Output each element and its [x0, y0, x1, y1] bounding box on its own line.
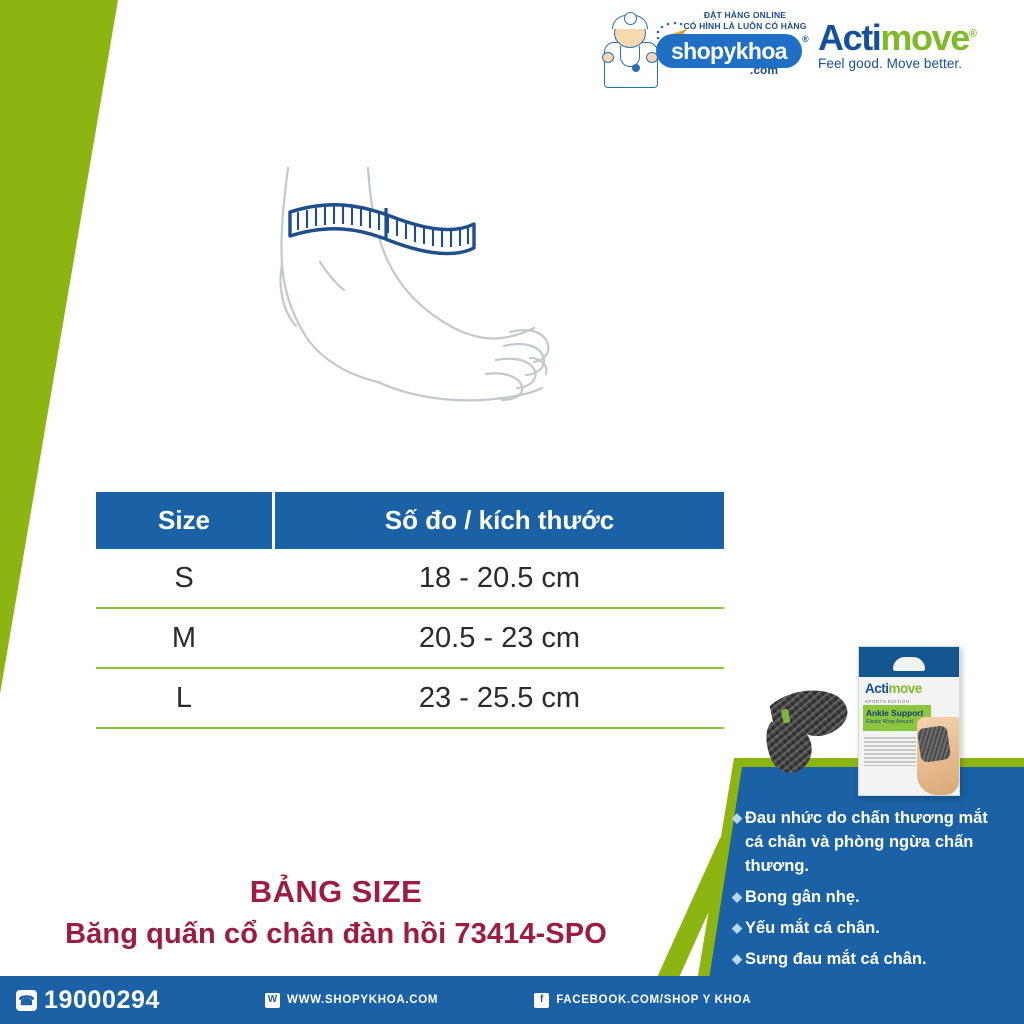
shopykhoa-logo[interactable]: ĐẶT HÀNG ONLINE CÓ HÌNH LÀ LUÔN CÓ HÀNG … [598, 6, 810, 84]
bullet-diamond-icon: ◆ [732, 916, 745, 940]
actimove-wordmark: Actimove® [818, 14, 1014, 58]
bullet-diamond-icon: ◆ [732, 885, 745, 909]
indications-list: ◆ Đau nhức do chấn thương mắt cá chân và… [732, 806, 1000, 978]
bullet-diamond-icon: ◆ [732, 947, 745, 971]
box-hang-hole [893, 657, 925, 671]
footer-facebook[interactable]: f FACEBOOK.COM/SHOP Y KHOA [534, 993, 751, 1008]
actimove-ankle-support-box: Actimove SPORTS EDITION Ankle Support El… [760, 640, 970, 800]
table-header-row: Size Số đo / kích thước [96, 492, 724, 549]
size-table: Size Số đo / kích thước S 18 - 20.5 cm M… [96, 492, 724, 729]
actimove-logo[interactable]: Actimove® Feel good. Move better. [818, 14, 1014, 80]
actimove-tagline: Feel good. Move better. [818, 56, 1014, 71]
page-title: BẢNG SIZE [0, 874, 672, 910]
list-item-label: Sưng đau mắt cá chân. [745, 947, 1000, 971]
box-brand-logo: Actimove [865, 681, 922, 696]
box-product-sub: Elastic Wrap Around [866, 719, 913, 725]
box-top-band [859, 647, 959, 677]
list-item-label: Đau nhức do chấn thương mắt cá chân và p… [745, 806, 1000, 878]
ankle-brace-photo [751, 672, 874, 791]
shop-name-part1: shop [671, 38, 724, 64]
footer-website-label: WWW.SHOPYKHOA.COM [287, 994, 438, 1006]
page-subtitle: Băng quấn cổ chân đàn hồi 73414-SPO [0, 918, 672, 951]
shop-tagline-line2: CÓ HÌNH LÀ LUÔN CÓ HÀNG [678, 21, 812, 32]
list-item: ◆ Đau nhức do chấn thương mắt cá chân và… [732, 806, 1000, 878]
list-item: ◆ Yếu mắt cá chân. [732, 916, 1000, 940]
shop-dotcom: .com [750, 63, 778, 77]
table-row: M 20.5 - 23 cm [96, 609, 724, 669]
list-item-label: Bong gân nhẹ. [745, 885, 1000, 909]
doctor-mascot-icon [602, 12, 658, 82]
box-brand-part2: move [889, 681, 922, 696]
foot-ankle-measurement-diagram [258, 160, 568, 440]
table-row: L 23 - 25.5 cm [96, 669, 724, 729]
table-header-measurement: Số đo / kích thước [275, 492, 724, 549]
facebook-icon: f [534, 993, 549, 1008]
shop-registered-mark: ® [802, 34, 809, 44]
globe-icon: W [265, 993, 280, 1008]
shop-tagline-line1: ĐẶT HÀNG ONLINE [678, 10, 812, 21]
footer-website[interactable]: W WWW.SHOPYKHOA.COM [265, 993, 438, 1008]
box-brace-image [917, 725, 951, 763]
actimove-registered-mark: ® [969, 28, 976, 40]
product-box: Actimove SPORTS EDITION Ankle Support El… [858, 646, 960, 796]
cell-size: L [96, 669, 272, 727]
shop-name-part2: y [724, 38, 736, 64]
footer-phone[interactable]: ☎ 19000294 [16, 986, 160, 1015]
cell-size: S [96, 549, 272, 607]
box-edition-label: SPORTS EDITION [865, 699, 909, 704]
phone-support-icon: ☎ [16, 990, 37, 1011]
footer-bar: ☎ 19000294 W WWW.SHOPYKHOA.COM f FACEBOO… [0, 976, 1024, 1024]
table-row: S 18 - 20.5 cm [96, 549, 724, 609]
cell-measurement: 20.5 - 23 cm [275, 609, 724, 667]
infographic-page: ĐẶT HÀNG ONLINE CÓ HÌNH LÀ LUÔN CÓ HÀNG … [0, 0, 1024, 1024]
cell-size: M [96, 609, 272, 667]
footer-phone-number: 19000294 [44, 986, 160, 1015]
actimove-word-part2: move [880, 17, 968, 58]
footer-facebook-label: FACEBOOK.COM/SHOP Y KHOA [556, 994, 751, 1006]
table-header-size: Size [96, 492, 272, 549]
list-item-label: Yếu mắt cá chân. [745, 916, 1000, 940]
cell-measurement: 23 - 25.5 cm [275, 669, 724, 727]
cell-measurement: 18 - 20.5 cm [275, 549, 724, 607]
actimove-word-part1: Acti [818, 17, 880, 58]
shopykhoa-wordmark: shopykhoa [656, 34, 802, 68]
box-product-name: Ankle Support [866, 708, 923, 718]
shop-name-part3: khoa [736, 38, 787, 64]
list-item: ◆ Sưng đau mắt cá chân. [732, 947, 1000, 971]
shop-tagline: ĐẶT HÀNG ONLINE CÓ HÌNH LÀ LUÔN CÓ HÀNG [678, 10, 812, 32]
bullet-diamond-icon: ◆ [732, 806, 745, 830]
header: ĐẶT HÀNG ONLINE CÓ HÌNH LÀ LUÔN CÓ HÀNG … [0, 0, 1024, 92]
list-item: ◆ Bong gân nhẹ. [732, 885, 1000, 909]
box-brand-part1: Acti [865, 681, 889, 696]
box-description-lines [864, 737, 916, 769]
